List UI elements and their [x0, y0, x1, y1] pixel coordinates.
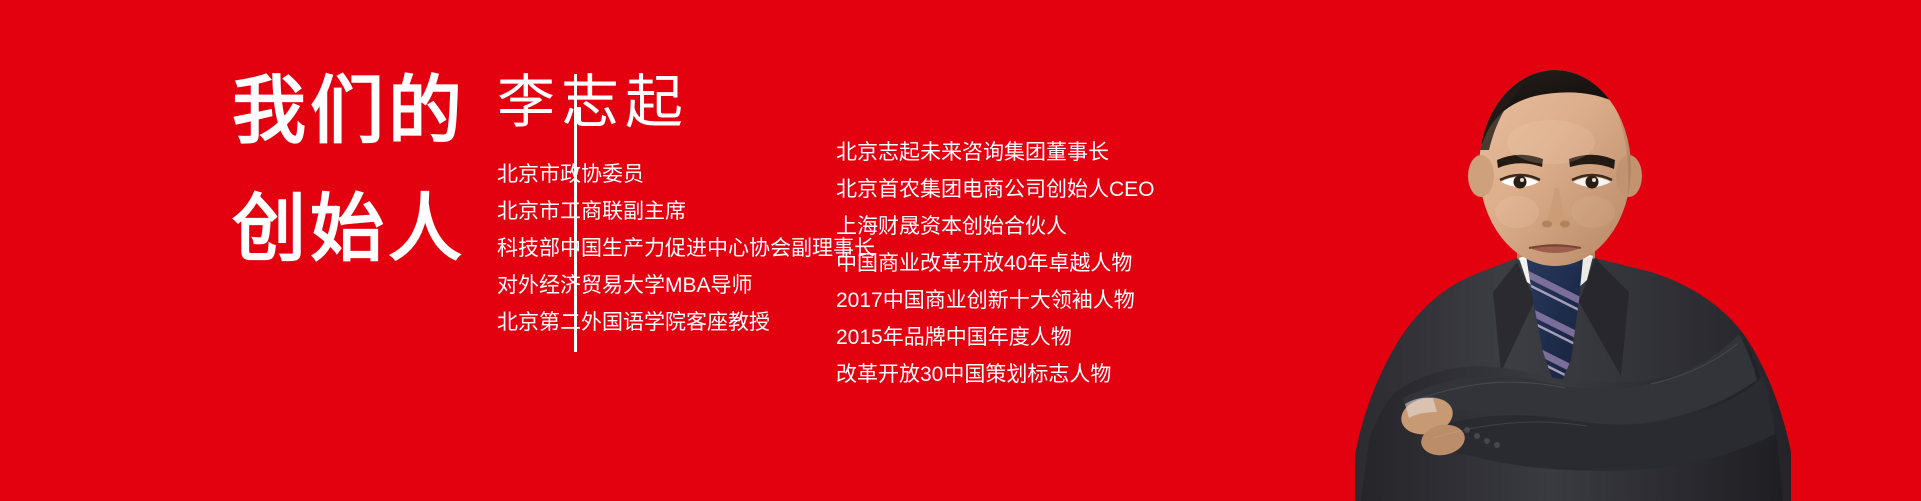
credential-item: 北京市工商联副主席	[497, 193, 875, 230]
credential-item: 北京市政协委员	[497, 156, 875, 193]
credential-item: 对外经济贸易大学MBA导师	[497, 267, 875, 304]
credential-item: 中国商业改革开放40年卓越人物	[836, 245, 1155, 282]
founder-banner: 我们的 创始人 李志起 北京市政协委员 北京市工商联副主席 科技部中国生产力促进…	[0, 0, 1921, 501]
credential-item: 北京志起未来咨询集团董事长	[836, 134, 1155, 171]
page-title-line-1: 我们的	[232, 52, 532, 170]
credentials-column-left: 北京市政协委员 北京市工商联副主席 科技部中国生产力促进中心协会副理事长 对外经…	[497, 156, 875, 341]
founder-portrait-photo	[1321, 0, 1921, 501]
page-title-line-2: 创始人	[232, 170, 532, 288]
credential-item: 北京首农集团电商公司创始人CEO	[836, 171, 1155, 208]
credential-item: 北京第二外国语学院客座教授	[497, 304, 875, 341]
credential-item: 改革开放30中国策划标志人物	[836, 356, 1155, 393]
founder-name: 李志起	[497, 66, 689, 140]
credentials-column-right: 北京志起未来咨询集团董事长 北京首农集团电商公司创始人CEO 上海财晟资本创始合…	[836, 134, 1155, 393]
credential-item: 2017中国商业创新十大领袖人物	[836, 282, 1155, 319]
credential-item: 2015年品牌中国年度人物	[836, 319, 1155, 356]
credential-item: 科技部中国生产力促进中心协会副理事长	[497, 230, 875, 267]
credential-item: 上海财晟资本创始合伙人	[836, 208, 1155, 245]
page-title: 我们的 创始人	[232, 52, 532, 342]
